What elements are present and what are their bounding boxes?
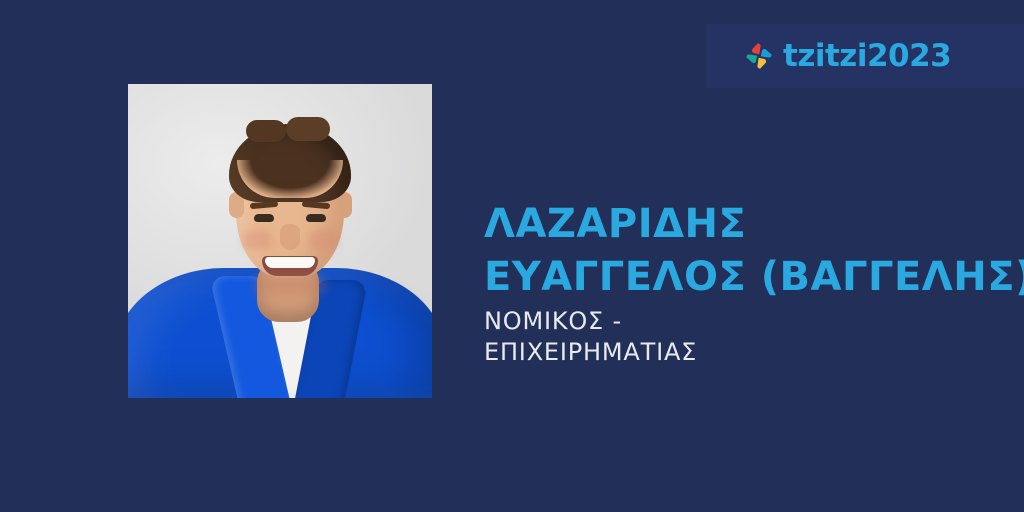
chin-shadow — [254, 274, 326, 296]
eye-right — [306, 214, 326, 222]
eye-left — [254, 214, 274, 222]
cheek-right — [308, 230, 338, 250]
nose — [280, 224, 300, 250]
brand-wordmark: tzitzi2023 — [783, 41, 951, 72]
brand-logo[interactable]: tzitzi2023 — [744, 36, 951, 76]
candidate-name-line: ΕΥΑΓΓΕΛΟΣ (ΒΑΓΓΕΛΗΣ) — [484, 251, 1004, 304]
candidate-role: ΝΟΜΙΚΟΣ - ΕΠΙΧΕΙΡΗΜΑΤΙΑΣ — [484, 306, 1004, 368]
hair-tuft — [246, 120, 286, 142]
pinwheel-icon — [744, 41, 774, 71]
candidate-role-line: ΕΠΙΧΕΙΡΗΜΑΤΙΑΣ — [484, 337, 1004, 368]
candidate-name: ΛΑΖΑΡΙΔΗΣ ΕΥΑΓΓΕΛΟΣ (ΒΑΓΓΕΛΗΣ) — [484, 198, 1004, 304]
candidate-name-line: ΛΑΖΑΡΙΔΗΣ — [484, 198, 1004, 251]
smile — [262, 256, 318, 276]
teeth — [265, 257, 315, 268]
campaign-card: tzitzi2023 ΛΑΖΑΡΙΔΗΣ ΕΥΑΓΓΕΛΟΣ (ΒΑΓΓΕΛΗΣ… — [0, 0, 1024, 512]
candidate-photo — [128, 84, 432, 398]
hair-tuft — [286, 117, 330, 141]
cheek-left — [242, 230, 272, 250]
candidate-role-line: ΝΟΜΙΚΟΣ - — [484, 306, 1004, 337]
